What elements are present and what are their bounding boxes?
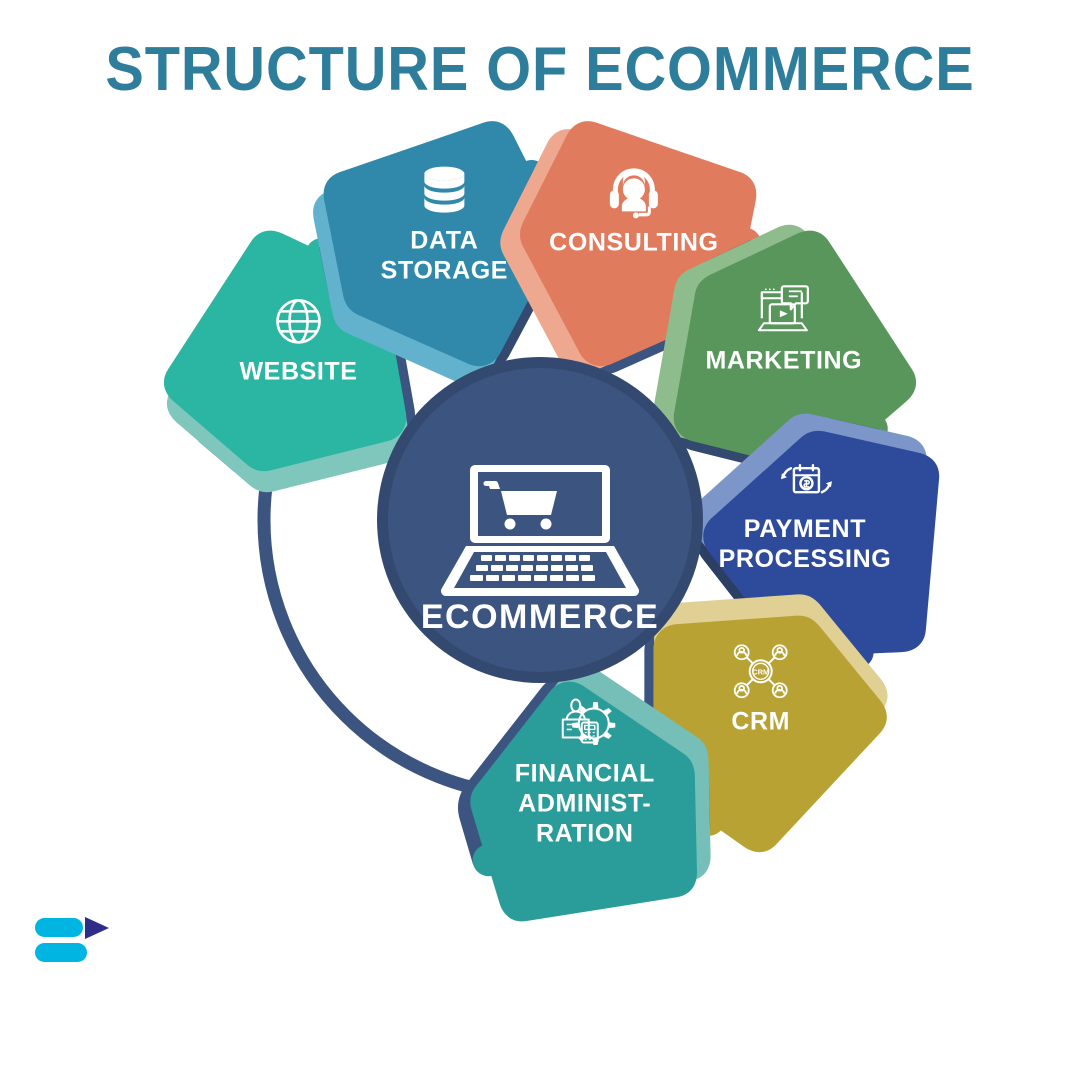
center-hub[interactable]: ECOMMERCE <box>377 357 703 683</box>
logo-bar-bottom <box>35 943 87 962</box>
node-label: MARKETING <box>705 346 862 374</box>
node-label: DATA <box>410 227 478 255</box>
diagram-svg: WEBSITEDATASTORAGECONSULTINGMARKETINGPAY… <box>0 120 1080 1000</box>
node-label: PAYMENT <box>744 515 866 543</box>
node-label: PROCESSING <box>719 545 892 573</box>
node-label: WEBSITE <box>239 357 357 385</box>
node-label: FINANCIAL <box>515 759 655 787</box>
node-label: CRM <box>731 707 790 735</box>
node-label: ADMINIST- <box>518 789 651 817</box>
brand-logo[interactable] <box>33 910 125 972</box>
logo-bar-top <box>35 918 83 937</box>
node-label: STORAGE <box>381 257 508 285</box>
infographic-stage: WEBSITEDATASTORAGECONSULTINGMARKETINGPAY… <box>0 120 1080 1000</box>
logo-arrow-icon <box>85 917 109 939</box>
node-label: CONSULTING <box>549 228 718 256</box>
page-title: STRUCTURE OF ECOMMERCE <box>38 34 1042 105</box>
node-label: RATION <box>536 819 634 847</box>
hub-label: ECOMMERCE <box>421 598 659 636</box>
